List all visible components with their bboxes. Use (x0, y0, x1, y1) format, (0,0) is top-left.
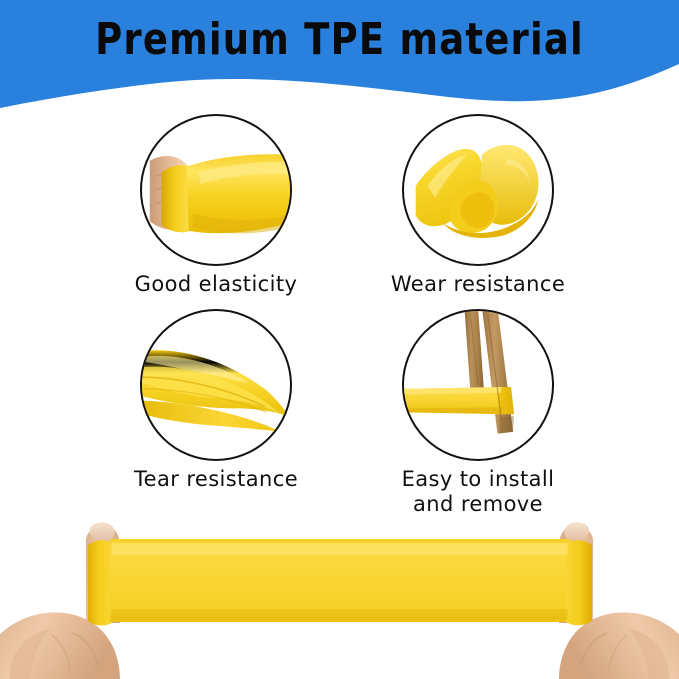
feature-label-wear-resistance: Wear resistance (328, 272, 628, 297)
hero-hands-stretching-band (0, 505, 679, 679)
tear-illustration (142, 311, 290, 459)
elasticity-illustration (142, 116, 290, 264)
feature-label-good-elasticity: Good elasticity (66, 272, 366, 297)
feature-grid: Good elasticity (0, 112, 679, 517)
feature-item-good-elasticity: Good elasticity (66, 114, 366, 297)
feature-item-easy-install-remove: Easy to install and remove (328, 309, 628, 517)
page-title: Premium TPE material (0, 14, 679, 65)
elasticity-photo-icon (140, 114, 292, 266)
stretched-band (88, 539, 592, 625)
header-banner: Premium TPE material (0, 0, 679, 110)
feature-item-tear-resistance: Tear resistance (66, 309, 366, 492)
feature-label-tear-resistance: Tear resistance (66, 467, 366, 492)
install-photo-icon (402, 309, 554, 461)
product-infographic-page: Premium TPE material (0, 0, 679, 679)
hands-stretching-band-photo-icon (0, 505, 679, 679)
wear-illustration (404, 116, 552, 264)
tear-photo-icon (140, 309, 292, 461)
feature-item-wear-resistance: Wear resistance (328, 114, 628, 297)
install-illustration (404, 311, 552, 459)
wear-photo-icon (402, 114, 554, 266)
